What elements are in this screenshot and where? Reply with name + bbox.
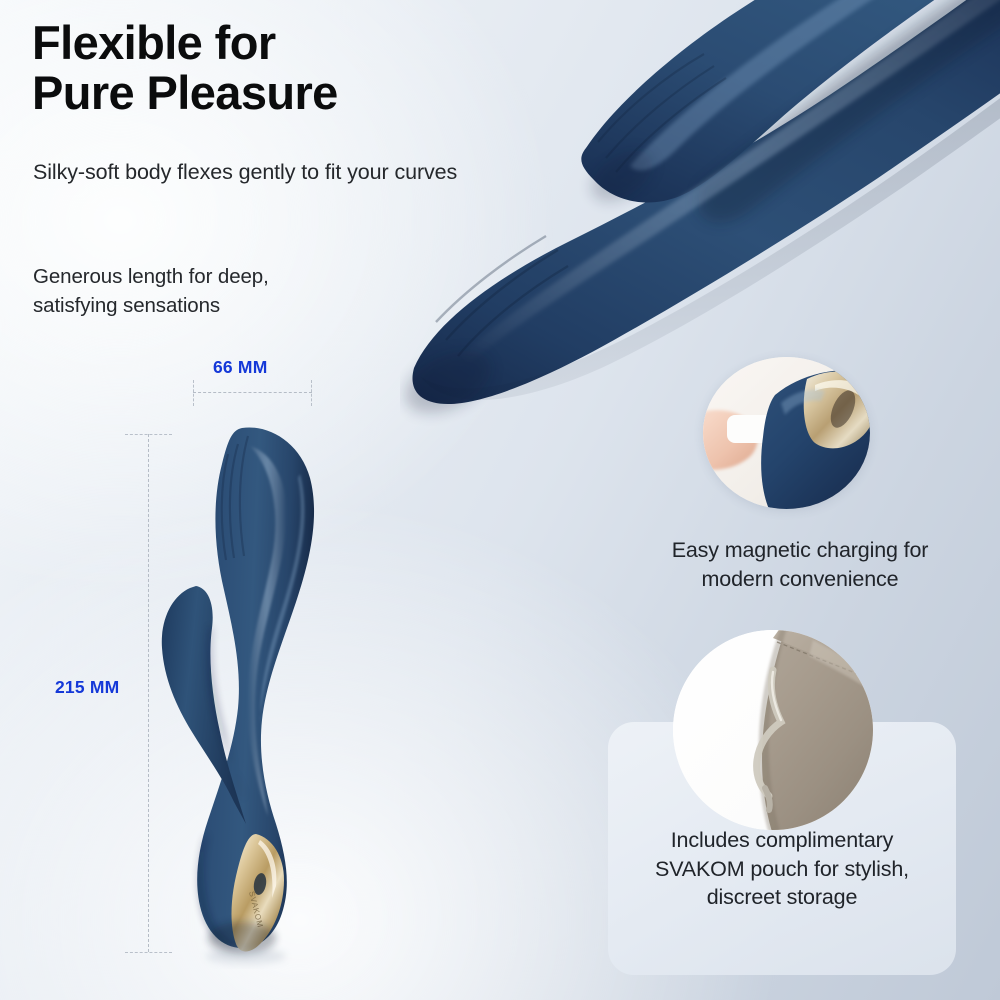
- length-description: Generous length for deep, satisfying sen…: [33, 262, 269, 320]
- height-tick-top: [125, 434, 172, 435]
- width-dimension-label: 66 MM: [213, 357, 267, 378]
- height-dimension-line: [148, 434, 149, 952]
- subtitle: Silky-soft body flexes gently to fit you…: [33, 160, 457, 185]
- width-dimension-line: [193, 392, 312, 393]
- width-tick-left: [193, 380, 194, 406]
- scaled-product-image: SVAKOM: [150, 420, 380, 980]
- hero-product-image: [400, 0, 1000, 430]
- small-contact-shadow: [206, 948, 286, 964]
- width-tick-right: [311, 380, 312, 406]
- magnetic-charging-photo: [703, 357, 870, 509]
- height-dimension-label: 215 MM: [55, 677, 119, 698]
- magnetic-charging-caption: Easy magnetic charging for modern conven…: [600, 536, 1000, 593]
- height-tick-bottom: [125, 952, 172, 953]
- storage-pouch-photo: [673, 630, 873, 830]
- storage-pouch-caption: Includes complimentary SVAKOM pouch for …: [608, 826, 956, 912]
- page-title: Flexible for Pure Pleasure: [32, 18, 338, 118]
- infographic-canvas: SVAKOM 66 MM 215 MM: [0, 0, 1000, 1000]
